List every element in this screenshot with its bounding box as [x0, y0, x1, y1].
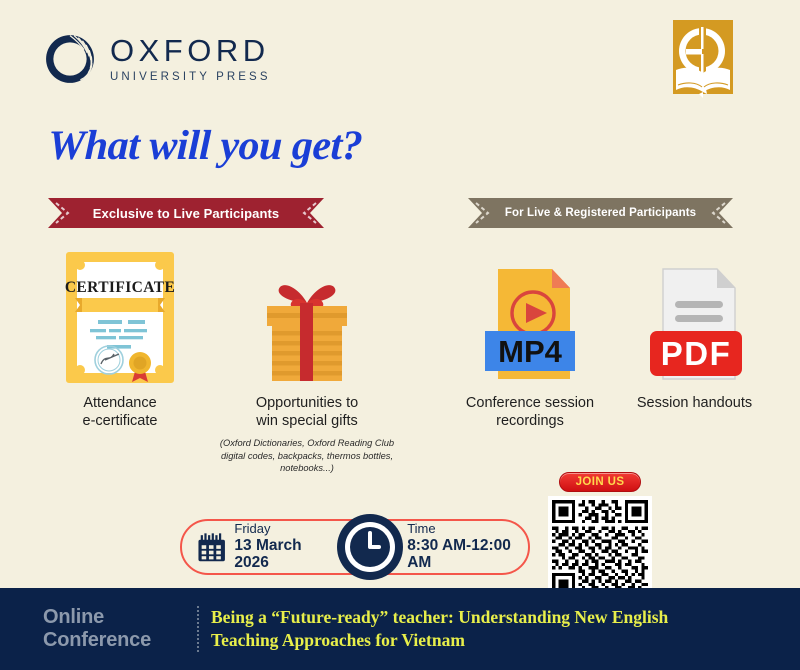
pdf-art: PDF	[612, 250, 777, 385]
gd-book-logo	[668, 16, 738, 106]
oxford-subword: UNIVERSITY PRESS	[110, 72, 271, 84]
join-us-button[interactable]: JOIN US	[559, 472, 641, 492]
certificate-icon: CERTIFICATE	[64, 250, 176, 385]
certificate-word: CERTIFICATE	[65, 279, 175, 296]
time-label: Time	[407, 522, 528, 537]
clock-icon	[337, 514, 403, 580]
benefit-note-gifts: (Oxford Dictionaries, Oxford Reading Clu…	[212, 437, 402, 474]
oxford-wordmark: OXFORD UNIVERSITY PRESS	[110, 35, 271, 84]
time-block: Time 8:30 AM-12:00 AM	[407, 522, 528, 573]
benefit-label-gifts: Opportunities towin special gifts	[212, 394, 402, 430]
benefit-item-handouts: PDF Session handouts	[612, 250, 777, 412]
bottom-bar-kicker: OnlineConference	[43, 606, 193, 652]
mp4-art: MP4	[440, 250, 620, 385]
poster-canvas: OXFORD UNIVERSITY PRESS What will you ge…	[0, 0, 800, 670]
page-title: What will you get?	[47, 122, 363, 170]
qr-code[interactable]	[548, 496, 652, 600]
ribbon-left-label: Exclusive to Live Participants	[93, 206, 280, 221]
ribbon-right-label: For Live & Registered Participants	[505, 207, 696, 219]
ribbon-registered-participants: For Live & Registered Participants	[468, 198, 733, 228]
mp4-video-file-icon: MP4	[474, 263, 586, 385]
bottom-bar-title: Being a “Future-ready” teacher: Understa…	[211, 606, 731, 652]
benefit-item-certificate: CERTIFICATE	[30, 250, 210, 430]
benefit-label-recordings: Conference sessionrecordings	[440, 394, 620, 430]
date-weekday: Friday	[234, 522, 331, 537]
date-block: Friday 13 March 2026	[198, 522, 331, 573]
benefit-label-handouts: Session handouts	[612, 394, 777, 412]
benefit-item-recordings: MP4 Conference sessionrecordings	[440, 250, 620, 430]
certificate-art: CERTIFICATE	[30, 250, 210, 385]
time-value: 8:30 AM-12:00 AM	[407, 537, 528, 573]
qr-zone[interactable]: JOIN US	[545, 472, 655, 600]
gift-art	[212, 250, 402, 385]
calendar-icon	[198, 532, 225, 563]
date-text: Friday 13 March 2026	[234, 522, 331, 573]
oxford-university-press-logo: OXFORD UNIVERSITY PRESS	[44, 33, 271, 85]
qr-code-image	[552, 500, 648, 596]
bottom-bar-divider	[197, 606, 199, 652]
bottom-bar: OnlineConference Being a “Future-ready” …	[0, 588, 800, 670]
oxford-word: OXFORD	[110, 35, 271, 66]
gift-box-icon	[256, 273, 358, 385]
mp4-badge-text: MP4	[498, 334, 563, 369]
oxford-press-ring-logo	[44, 33, 96, 85]
pdf-badge-text: PDF	[660, 335, 731, 372]
benefit-label-certificate: Attendancee-certificate	[30, 394, 210, 430]
datetime-pill: Friday 13 March 2026 Time 8:30 AM-12:00 …	[180, 519, 530, 575]
benefit-item-gifts: Opportunities towin special gifts (Oxfor…	[212, 250, 402, 474]
pdf-document-file-icon: PDF	[639, 263, 751, 385]
ribbon-exclusive-live: Exclusive to Live Participants	[48, 198, 324, 228]
date-value: 13 March 2026	[234, 537, 331, 573]
time-text: Time 8:30 AM-12:00 AM	[407, 522, 528, 573]
